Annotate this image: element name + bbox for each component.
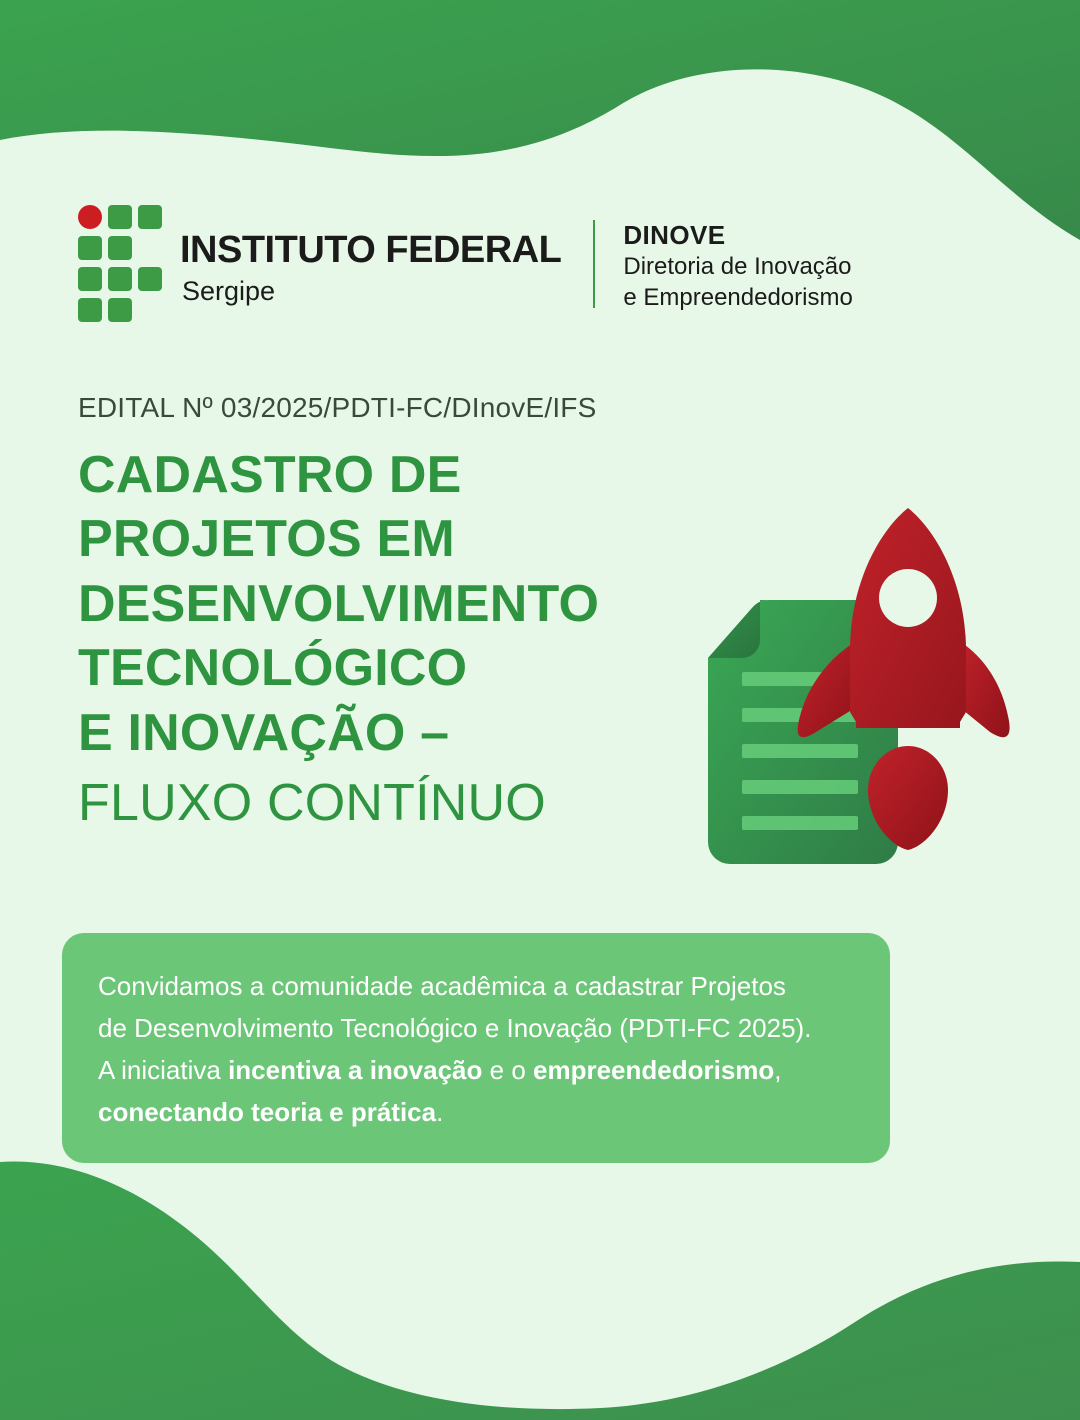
dinove-subtitle-line1: Diretoria de Inovação	[623, 251, 852, 282]
callout-line4-suffix: .	[436, 1097, 443, 1127]
callout-line3-bold-2: empreendedorismo	[533, 1055, 774, 1085]
dinove-subtitle-line2: e Empreendedorismo	[623, 282, 852, 313]
callout-line3-suffix: ,	[774, 1055, 781, 1085]
dinove-logo: DINOVE Diretoria de Inovação e Empreende…	[623, 215, 852, 314]
edital-number: EDITAL Nº 03/2025/PDTI-FC/DInovE/IFS	[78, 392, 596, 424]
title-line-5: E INOVAÇÃO –	[78, 701, 718, 765]
title-subtitle: FLUXO CONTÍNUO	[78, 771, 718, 835]
if-logo-square	[108, 298, 132, 322]
dinove-title: DINOVE	[623, 219, 852, 252]
callout-box: Convidamos a comunidade acadêmica a cada…	[62, 933, 890, 1163]
callout-line-1: Convidamos a comunidade acadêmica a cada…	[98, 965, 854, 1007]
callout-line3-mid: e o	[482, 1055, 533, 1085]
title-line-4: TECNOLÓGICO	[78, 636, 718, 700]
instituto-federal-logo: INSTITUTO FEDERAL Sergipe	[78, 205, 561, 323]
title-line-2: PROJETOS EM	[78, 507, 718, 571]
poster-header: INSTITUTO FEDERAL Sergipe DINOVE Diretor…	[78, 205, 853, 323]
logo-divider	[593, 220, 595, 308]
if-logo-square	[108, 236, 132, 260]
bottom-wave-decoration	[0, 1150, 1080, 1420]
if-logo-square	[78, 267, 102, 291]
if-logo-wordmark: INSTITUTO FEDERAL Sergipe	[180, 205, 561, 305]
if-logo-grid-icon	[78, 205, 162, 323]
if-logo-square	[138, 205, 162, 229]
callout-line-4: conectando teoria e prática.	[98, 1091, 854, 1133]
if-logo-square	[78, 298, 102, 322]
callout-line3-bold-1: incentiva a inovação	[228, 1055, 482, 1085]
rocket-document-illustration	[690, 490, 1030, 880]
top-wave-decoration	[0, 0, 1080, 240]
rocket-window	[879, 569, 937, 627]
page-title: CADASTRO DE PROJETOS EM DESENVOLVIMENTO …	[78, 443, 718, 836]
if-logo-square	[78, 236, 102, 260]
title-line-1: CADASTRO DE	[78, 443, 718, 507]
title-line-3: DESENVOLVIMENTO	[78, 572, 718, 636]
if-campus-name: Sergipe	[182, 278, 561, 305]
if-logo-square	[108, 267, 132, 291]
callout-line-2: de Desenvolvimento Tecnológico e Inovaçã…	[98, 1007, 854, 1049]
callout-line3-prefix: A iniciativa	[98, 1055, 228, 1085]
if-logo-square	[108, 205, 132, 229]
if-institute-name: INSTITUTO FEDERAL	[180, 231, 561, 269]
if-logo-red-dot	[78, 205, 102, 229]
callout-line-3: A iniciativa incentiva a inovação e o em…	[98, 1049, 854, 1091]
callout-line4-bold: conectando teoria e prática	[98, 1097, 436, 1127]
if-logo-square	[138, 267, 162, 291]
